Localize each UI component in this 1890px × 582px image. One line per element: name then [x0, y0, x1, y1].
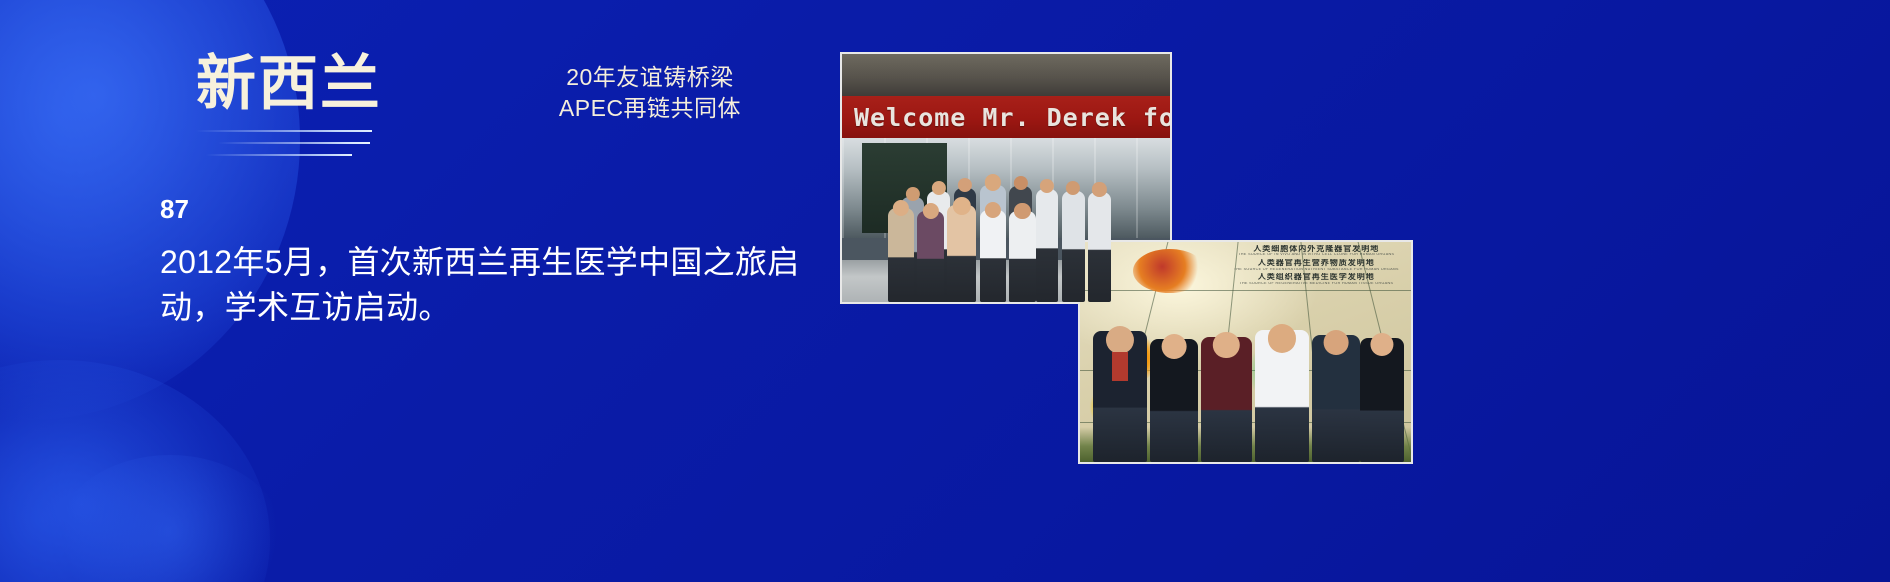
- slide-canvas: 新西兰 20年友谊铸桥梁 APEC再链共同体 87 2012年5月，首次新西兰再…: [0, 0, 1890, 582]
- photo2-backdrop-line-1-en: THE SOURCE OF IN VIVO AND IN VITRO CELL …: [1224, 253, 1409, 257]
- photo2-backdrop-line-2-cn: 人类器官再生营养物质发明地: [1224, 259, 1409, 267]
- item-number: 87: [160, 196, 189, 222]
- photo2-person-head: [1268, 324, 1296, 352]
- photo1-person-head: [985, 174, 1001, 190]
- photo1-ceiling: [842, 54, 1170, 96]
- decoration-line-3: [206, 154, 352, 156]
- photo1-banner-text: Welcome Mr. Derek for GMP In: [842, 103, 1170, 132]
- photo1-person-head: [958, 178, 972, 192]
- photo1-person: [888, 208, 914, 302]
- photo2-person: [1360, 338, 1404, 462]
- photo2-person: [1255, 330, 1309, 462]
- photo2-person: [1093, 331, 1147, 462]
- photo2-backdrop-parallel: [1080, 290, 1411, 291]
- photo2-person: [1312, 335, 1360, 462]
- photo1-person: [947, 205, 977, 302]
- photo2-person: [1201, 337, 1252, 462]
- photo2-backdrop-line-3-en: THE SOURCE OF REGENERATIVE MEDICINE FOR …: [1224, 282, 1409, 286]
- photo1-person: [980, 210, 1006, 302]
- photo1-person-head: [932, 181, 946, 195]
- photo1-person-head: [1092, 182, 1106, 196]
- photo2-person: [1150, 339, 1198, 462]
- photo1-person-head: [953, 197, 971, 215]
- subtitle: 20年友谊铸桥梁 APEC再链共同体: [480, 62, 820, 123]
- photo1-person: [1088, 192, 1111, 302]
- photo2-person-head: [1213, 332, 1239, 358]
- photo1-welcome-banner: Welcome Mr. Derek for GMP In: [842, 96, 1170, 138]
- photo2-person-accent: [1112, 352, 1127, 381]
- photo1-person-head: [1014, 203, 1030, 219]
- background-glow-bottom-accent: [55, 455, 285, 582]
- photo1-person-head: [922, 203, 938, 219]
- page-title: 新西兰: [196, 54, 382, 114]
- photo1-person-head: [1040, 179, 1054, 193]
- body-paragraph: 2012年5月，首次新西兰再生医学中国之旅启动，学术互访启动。: [160, 240, 800, 331]
- photo2-person-head: [1162, 334, 1187, 359]
- photo1-person-head: [985, 202, 1001, 218]
- photo2-person-head: [1324, 330, 1349, 355]
- photo1-person: [1062, 191, 1085, 302]
- photo1-person-head: [905, 187, 919, 201]
- photo1-person: [1036, 189, 1059, 302]
- photo1-person-head: [893, 200, 909, 216]
- photo1-person-head: [1014, 176, 1028, 190]
- decoration-line-2: [218, 142, 370, 144]
- photo2-backdrop-line-1-cn: 人类细胞体内外克隆器官发明地: [1224, 245, 1409, 253]
- photo1-person-head: [1066, 181, 1080, 195]
- photo2-people-group: [1087, 326, 1405, 462]
- subtitle-line-1: 20年友谊铸桥梁: [480, 62, 820, 93]
- photo1-person: [1009, 211, 1035, 302]
- subtitle-line-2: APEC再链共同体: [480, 93, 820, 124]
- photo-group-backdrop[interactable]: 人类细胞体内外克隆器官发明地 THE SOURCE OF IN VIVO AND…: [1078, 240, 1413, 464]
- title-underline-decoration: [196, 126, 426, 164]
- photo2-person-head: [1371, 333, 1394, 356]
- background-glow-bottom-left: [0, 360, 270, 582]
- decoration-line-1: [196, 130, 372, 132]
- photo2-backdrop-line-3-cn: 人类组织器官再生医学发明地: [1224, 273, 1409, 281]
- photo2-backdrop-motif: [1133, 249, 1206, 293]
- photo2-backdrop-line-2-en: THE SOURCE OF REGENERATION NUTRIENT SUBS…: [1224, 268, 1409, 272]
- photo1-person: [917, 211, 943, 302]
- photo2-backdrop-text: 人类细胞体内外克隆器官发明地 THE SOURCE OF IN VIVO AND…: [1224, 245, 1409, 287]
- photo2-person-head: [1106, 326, 1134, 354]
